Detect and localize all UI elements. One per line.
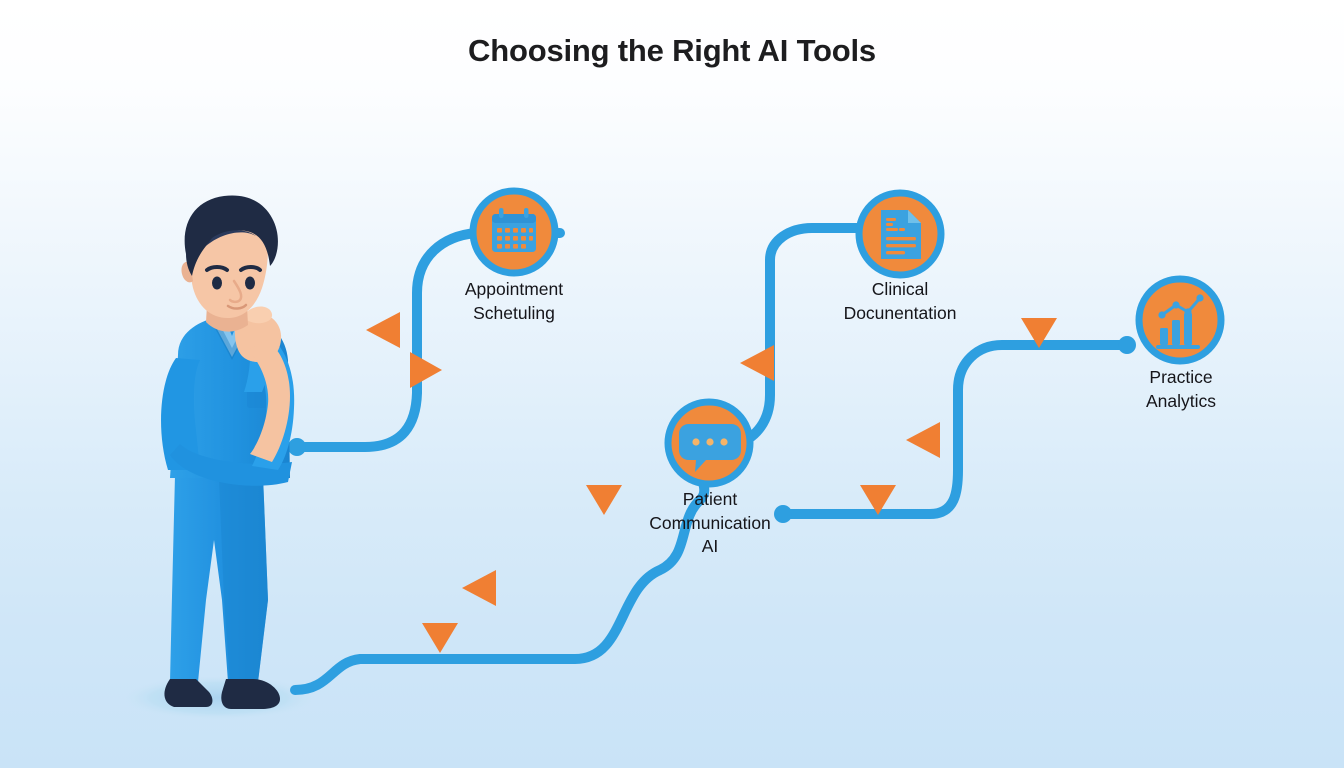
connector-analytics-path bbox=[786, 345, 1124, 514]
arrow-left-icon bbox=[462, 570, 496, 606]
dot-character-upper bbox=[288, 438, 306, 456]
arrow-left-icon bbox=[366, 312, 400, 348]
node-label-patient-communication-ai: Patient Communication AI bbox=[610, 488, 810, 559]
node-label-practice-analytics: Practice Analytics bbox=[1081, 366, 1281, 413]
dot-analytics-left bbox=[1118, 336, 1136, 354]
page-title: Choosing the Right AI Tools bbox=[0, 33, 1344, 69]
node-appointment-scheduling[interactable] bbox=[473, 191, 555, 273]
node-label-clinical-documentation: Clinical Docunentation bbox=[800, 278, 1000, 325]
calendar-icon bbox=[492, 208, 536, 252]
character-shadow bbox=[122, 676, 316, 720]
connector-clinical-path-b bbox=[735, 228, 862, 445]
document-icon bbox=[881, 210, 921, 259]
character-illustration bbox=[161, 195, 294, 709]
arrow-down-icon bbox=[422, 623, 458, 653]
arrow-right-icon bbox=[410, 352, 442, 388]
node-practice-analytics[interactable] bbox=[1139, 279, 1221, 361]
node-clinical-documentation[interactable] bbox=[859, 193, 941, 275]
arrow-left-icon bbox=[740, 345, 774, 381]
arrow-left-icon bbox=[906, 422, 940, 458]
infographic-canvas: Choosing the Right AI Tools Appointment … bbox=[0, 0, 1344, 768]
node-label-appointment-scheduling: Appointment Schetuling bbox=[414, 278, 614, 325]
node-patient-communication-ai[interactable] bbox=[668, 402, 750, 484]
